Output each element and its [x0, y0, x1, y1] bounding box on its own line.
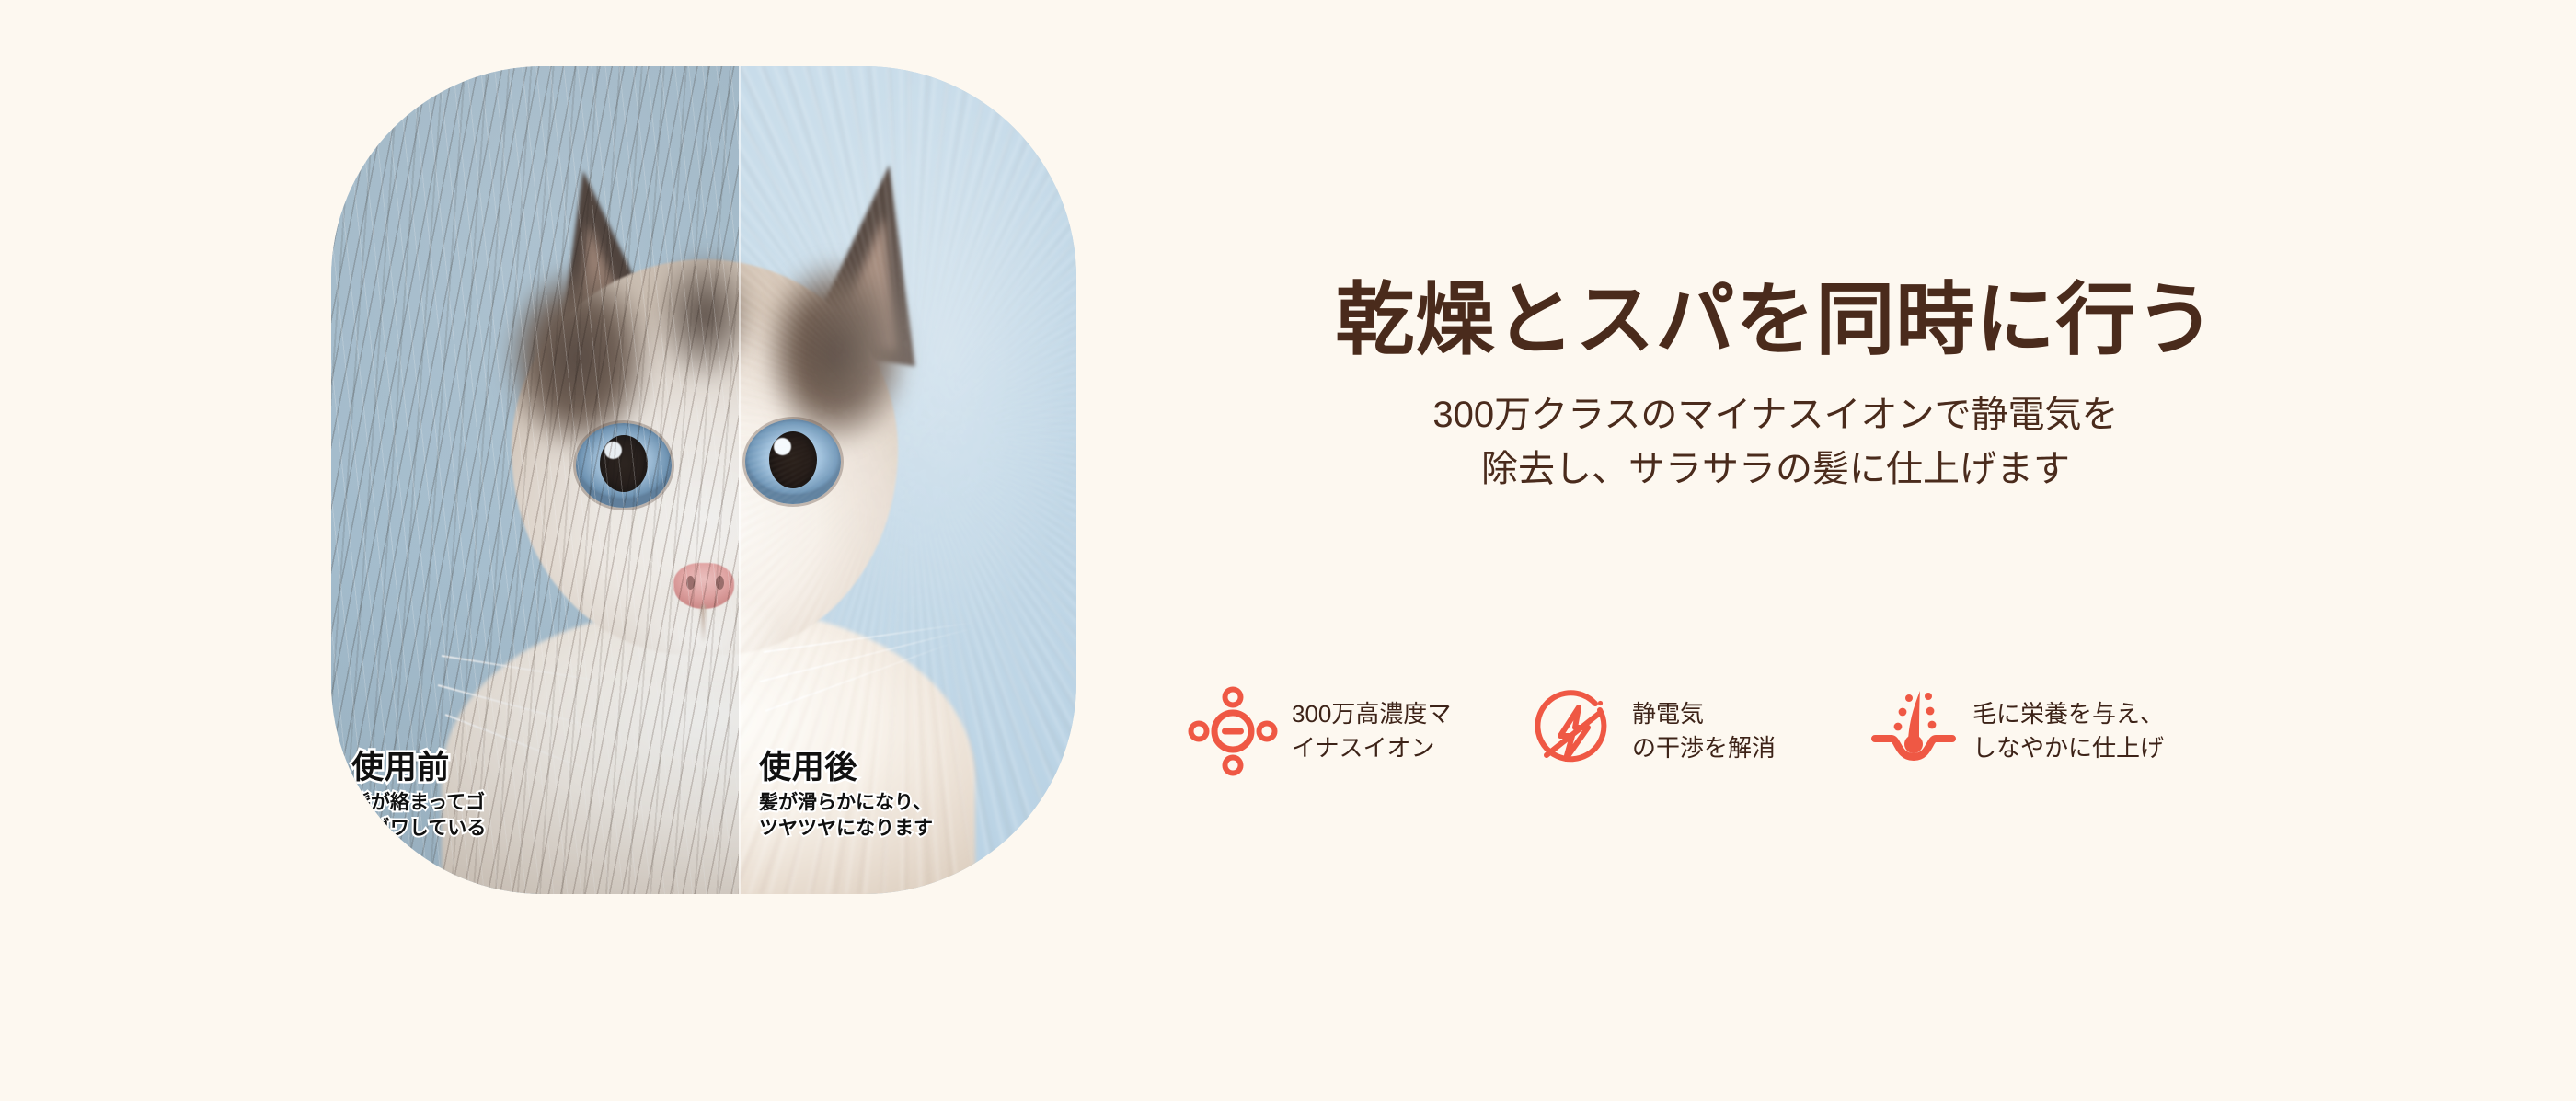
no-static-electricity-icon	[1527, 685, 1619, 777]
feature-label: 静電気 の干渉を解消	[1632, 697, 1776, 766]
after-caption-title: 使用後	[759, 749, 933, 786]
after-caption: 使用後 髪が滑らかになり、 ツヤツヤになります	[759, 749, 933, 841]
feature-label: 毛に栄養を与え、 しなやかに仕上げ	[1972, 697, 2164, 766]
copy-block: 乾燥とスパを同時に行う 300万クラスのマイナスイオンで静電気を 除去し、サラサ…	[1196, 276, 2355, 496]
headline: 乾燥とスパを同時に行う	[1196, 276, 2355, 364]
feature-item-no-static: 静電気 の干渉を解消	[1527, 685, 1868, 777]
before-caption: 使用前 髪が絡まってゴ ワゴワしている	[351, 749, 486, 841]
before-after-card: 使用前 髪が絡まってゴ ワゴワしている	[331, 66, 1076, 894]
feature-item-nourish-hair: 毛に栄養を与え、 しなやかに仕上げ	[1868, 685, 2254, 777]
hair-follicle-nourish-icon	[1868, 685, 1960, 777]
before-caption-title: 使用前	[351, 749, 486, 786]
feature-item-negative-ion: 300万高濃度マ イナスイオン	[1187, 685, 1527, 777]
before-half: 使用前 髪が絡まってゴ ワゴワしている	[331, 66, 739, 894]
split-divider	[739, 66, 741, 894]
feature-label: 300万高濃度マ イナスイオン	[1292, 697, 1451, 766]
after-half: 使用後 髪が滑らかになり、 ツヤツヤになります	[739, 66, 1076, 894]
after-caption-description: 髪が滑らかになり、 ツヤツヤになります	[759, 790, 933, 841]
before-caption-description: 髪が絡まってゴ ワゴワしている	[351, 790, 486, 841]
product-feature-banner: 使用前 髪が絡まってゴ ワゴワしている	[0, 0, 2576, 1101]
negative-ion-icon	[1187, 685, 1279, 777]
subheadline: 300万クラスのマイナスイオンで静電気を 除去し、サラサラの髪に仕上げます	[1196, 388, 2355, 496]
feature-list: 300万高濃度マ イナスイオン 静電気 の干渉を解消	[1187, 685, 2374, 777]
